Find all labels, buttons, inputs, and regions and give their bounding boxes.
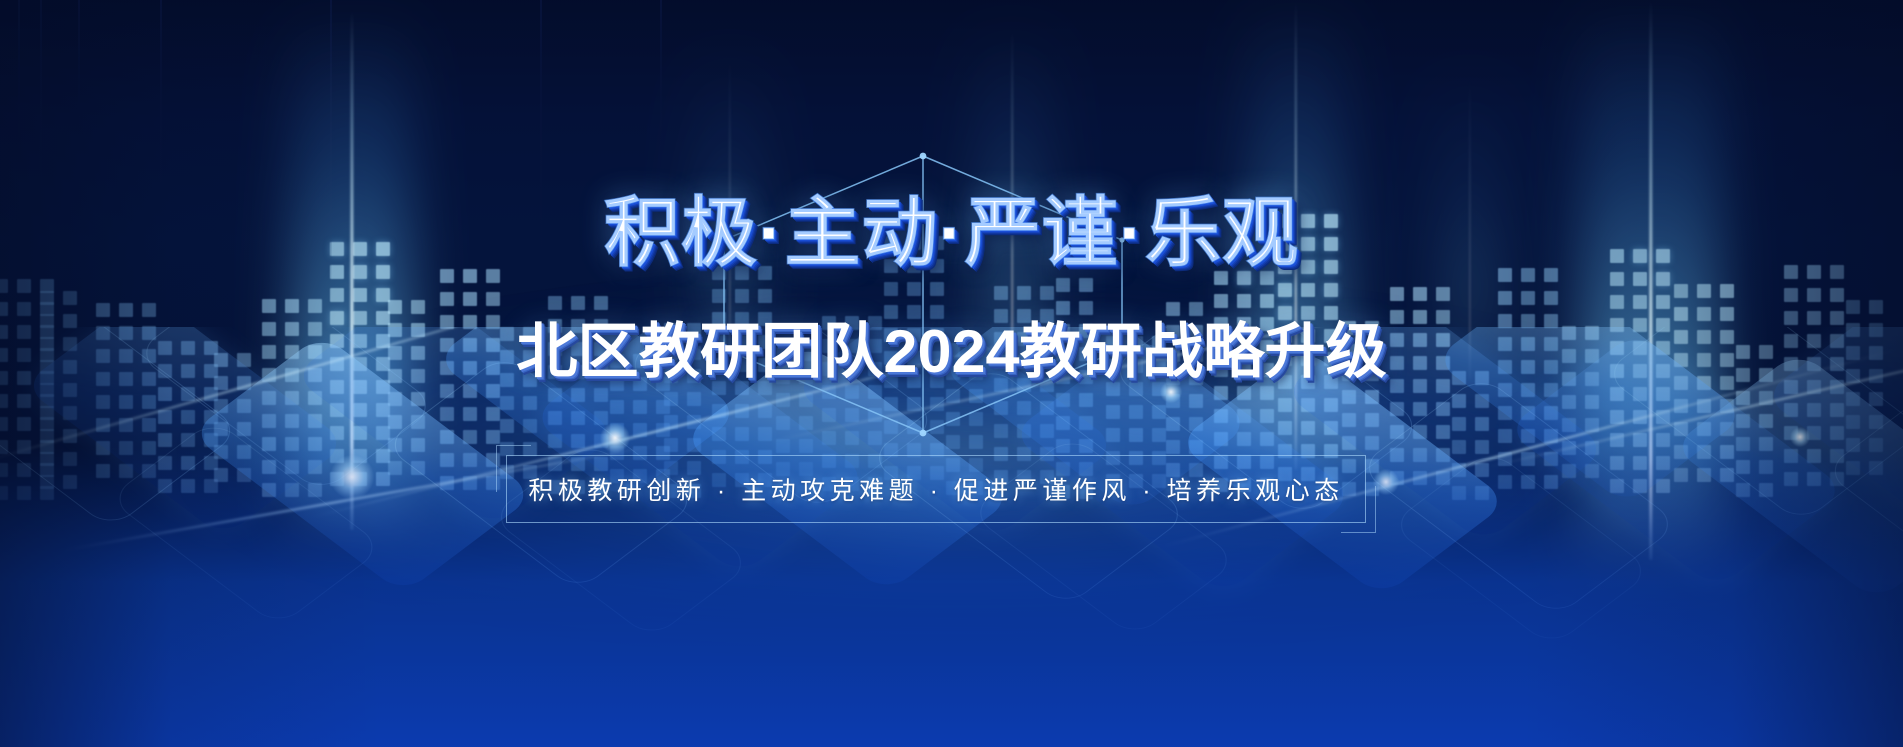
city-skyline [0, 0, 1903, 747]
side-vignette [0, 0, 1903, 747]
tech-banner: 积极·主动·严谨·乐观 北区教研团队2024教研战略升级 积极教研创新 · 主动… [0, 0, 1903, 747]
hexagon-wireframe [718, 152, 1128, 437]
page-subtitle: 北区教研团队2024教研战略升级 [0, 322, 1903, 382]
sky-vignette [0, 0, 1903, 747]
slogan-banner-box: 积极教研创新 · 主动攻克难题 · 促进严谨作风 · 培养乐观心态 [506, 455, 1366, 523]
page-title: 积极·主动·严谨·乐观 [0, 196, 1903, 272]
slogan-text: 积极教研创新 · 主动攻克难题 · 促进严谨作风 · 培养乐观心态 [528, 471, 1343, 507]
perspective-tile-floor [0, 327, 1903, 747]
light-beams [0, 0, 1903, 747]
